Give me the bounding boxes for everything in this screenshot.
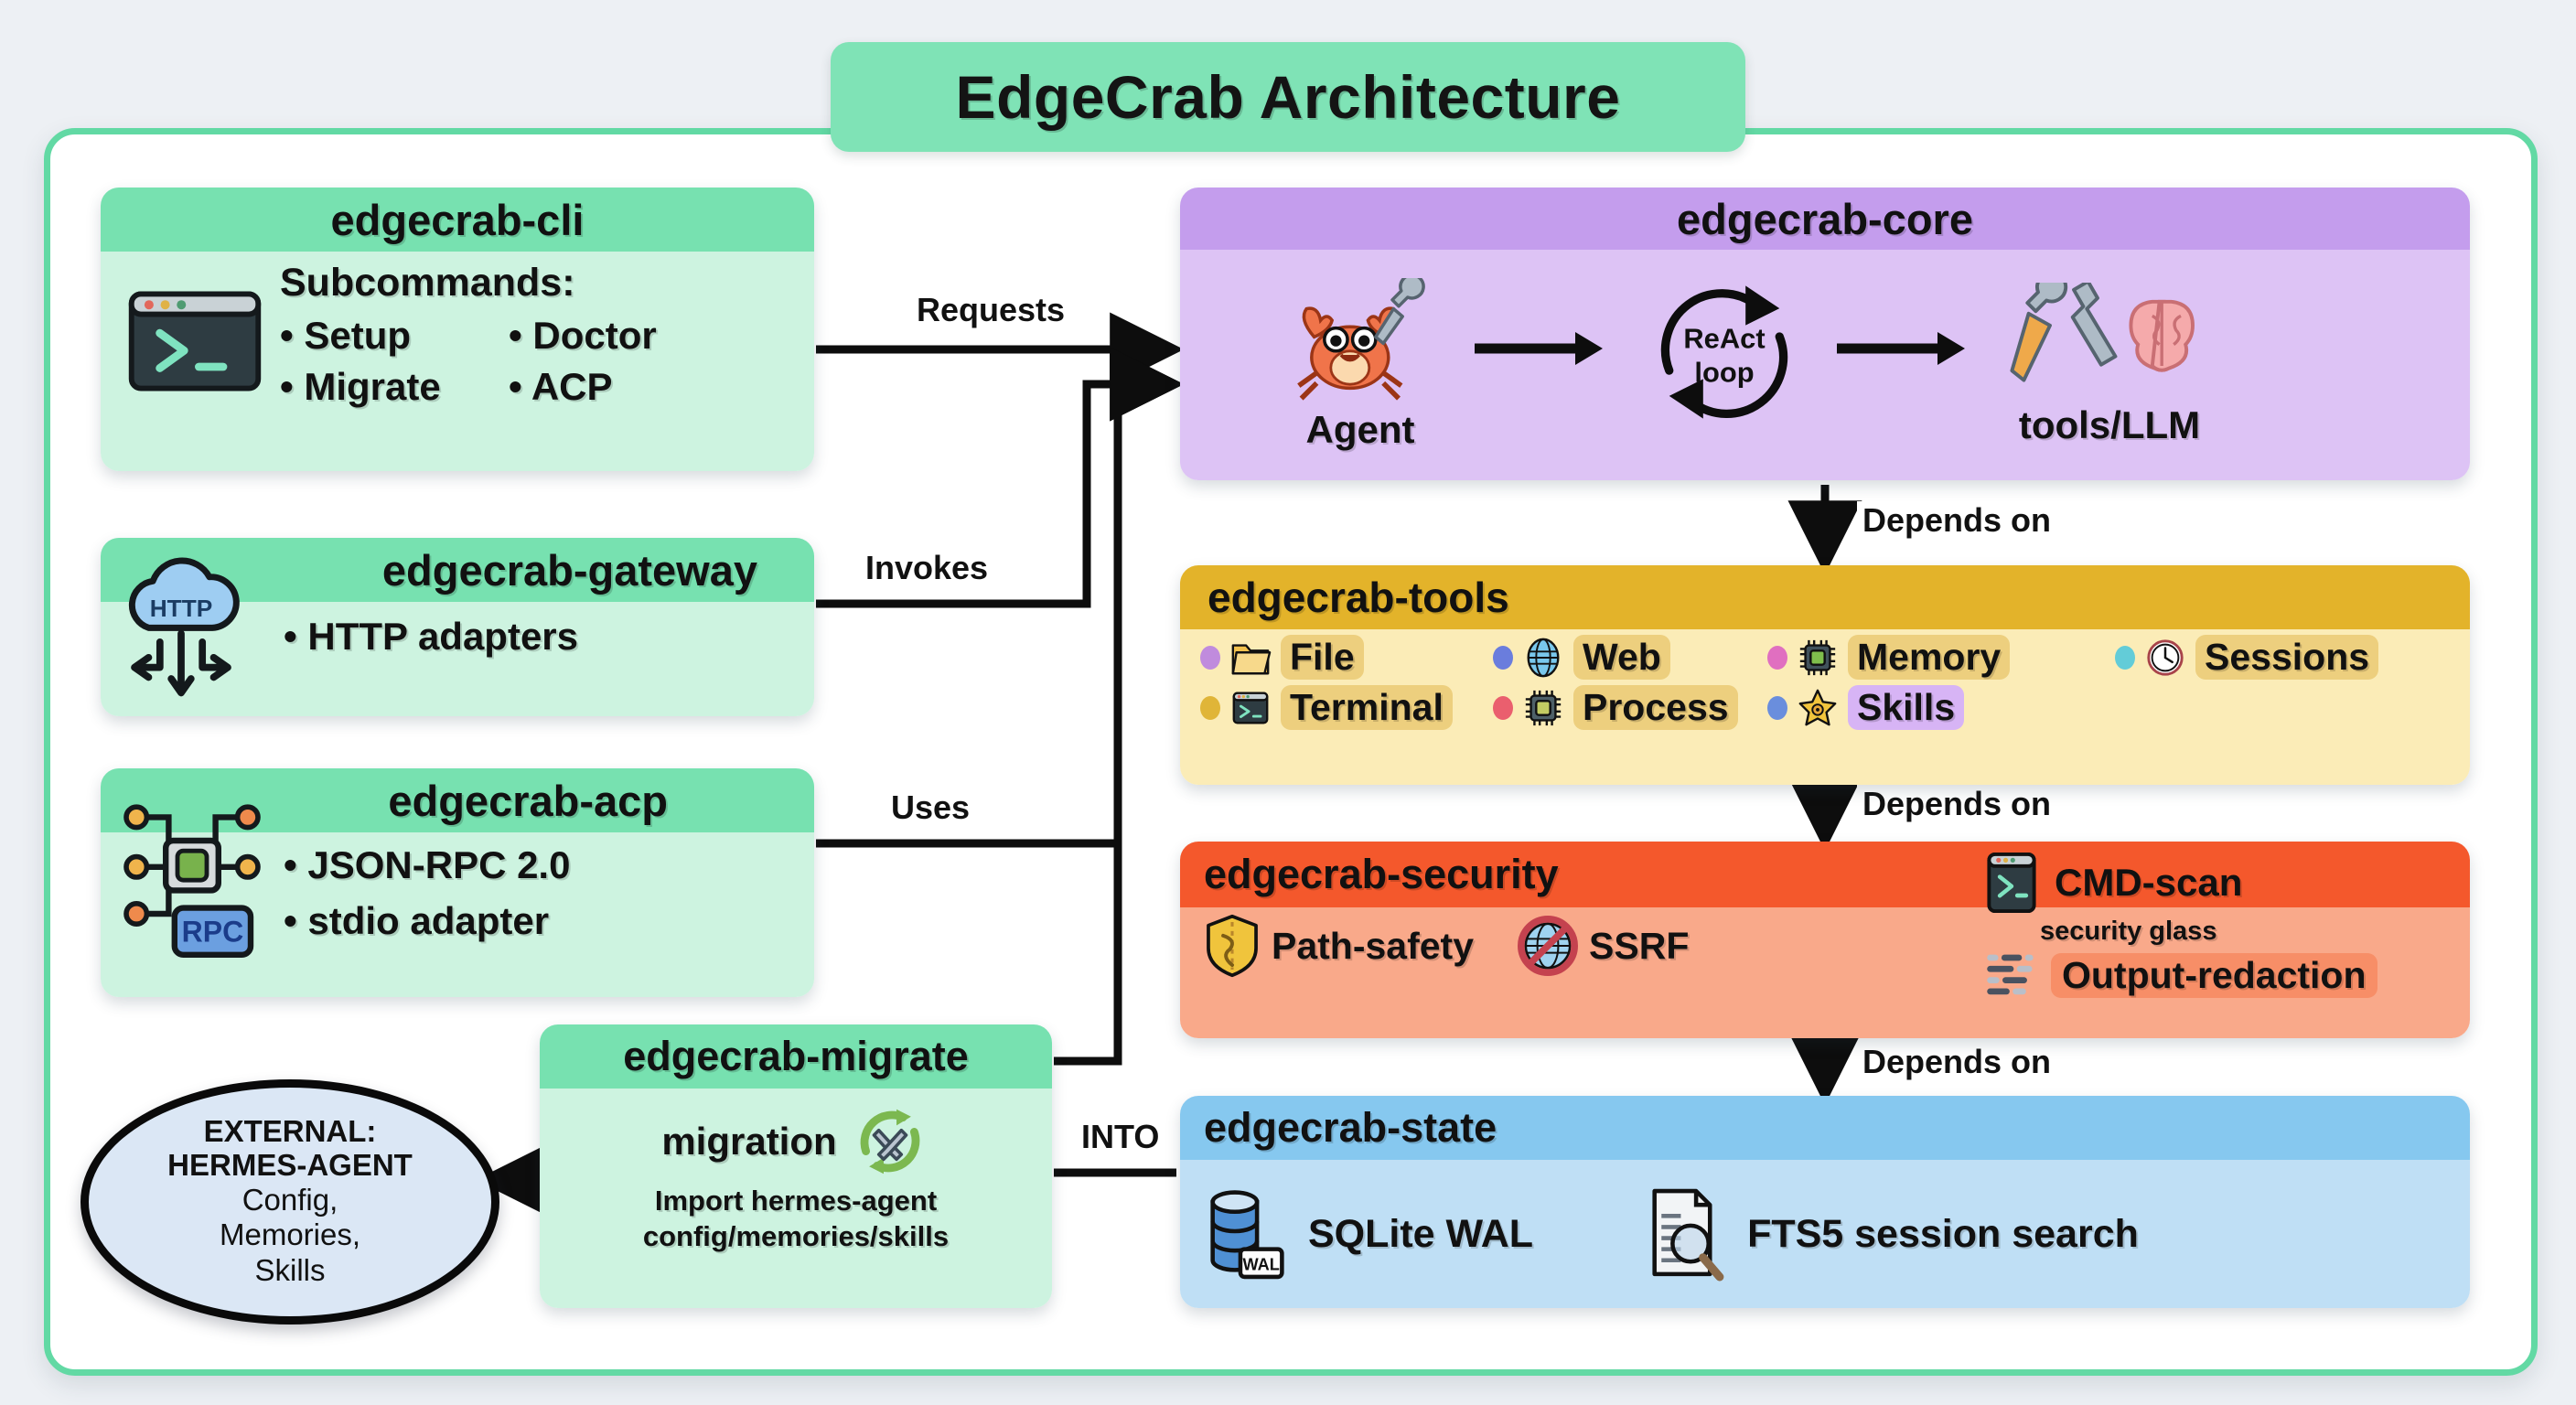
security-label-ssrf: SSRF	[1589, 925, 1689, 968]
tool-dot-terminal	[1200, 696, 1220, 720]
document-magnifier-icon	[1643, 1185, 1727, 1282]
tool-label-terminal: Terminal	[1281, 685, 1453, 730]
node-external-hermes-agent[interactable]: EXTERNAL: HERMES-AGENT Config, Memories,…	[80, 1079, 499, 1325]
tool-dot-web	[1493, 646, 1513, 670]
tool-label-file: File	[1281, 635, 1364, 680]
cli-subcommand-setup: • Setup	[280, 314, 509, 358]
terminal-icon	[1229, 687, 1272, 729]
cli-subcommand-doctor: • Doctor	[509, 314, 746, 358]
hermes-line-name: HERMES-AGENT	[167, 1149, 413, 1183]
security-label-security-glass: security glass	[2040, 917, 2377, 947]
page-title: EdgeCrab Architecture	[831, 42, 1745, 152]
tools-grid: File Web	[1200, 635, 2463, 730]
migrate-note-line1: Import hermes-agent	[540, 1184, 1052, 1219]
arrow-agent-to-loop	[1469, 321, 1606, 376]
security-item-path-safety[interactable]: Path-safety	[1204, 913, 1474, 979]
recycle-tools-icon	[850, 1101, 930, 1182]
security-item-cmd-scan[interactable]: CMD-scan	[1985, 851, 2377, 915]
tool-label-memory: Memory	[1848, 635, 2010, 680]
edge-label-uses: Uses	[885, 788, 975, 827]
node-core-header: edgecrab-core	[1180, 188, 2470, 250]
folder-icon	[1229, 637, 1272, 679]
edge-label-requests: Requests	[911, 291, 1070, 329]
cli-subcommands-label: Subcommands:	[280, 261, 575, 306]
core-agent-caption: Agent	[1306, 408, 1415, 452]
security-label-cmd-scan: CMD-scan	[2055, 861, 2242, 905]
cli-subcommand-grid: • Setup • Doctor • Migrate • ACP	[280, 314, 792, 409]
cli-subcommand-migrate: • Migrate	[280, 365, 509, 409]
hermes-line-memories: Memories,	[220, 1217, 360, 1253]
node-edgecrab-tools[interactable]: edgecrab-tools File	[1180, 565, 2470, 785]
core-loop-line1: ReAct	[1683, 322, 1765, 354]
security-item-ssrf[interactable]: SSRF	[1518, 916, 1689, 976]
hermes-line-skills: Skills	[254, 1253, 325, 1289]
node-migrate-header: edgecrab-migrate	[540, 1024, 1052, 1089]
redaction-bars-icon	[1985, 950, 2036, 1000]
svg-text:RPC: RPC	[182, 915, 244, 948]
tool-dot-memory	[1767, 646, 1787, 670]
svg-text:HTTP: HTTP	[150, 595, 213, 622]
security-label-output-redaction: Output-redaction	[2051, 953, 2377, 998]
core-loop-line2: loop	[1694, 356, 1754, 388]
database-wal-icon: WAL	[1204, 1185, 1288, 1282]
edge-label-depends-2: Depends on	[1857, 785, 2056, 823]
state-label-fts5: FTS5 session search	[1747, 1212, 2139, 1257]
security-item-output-redaction[interactable]: Output-redaction	[1985, 950, 2377, 1000]
security-label-path-safety: Path-safety	[1272, 925, 1474, 968]
clock-icon	[2144, 637, 2186, 679]
chip-icon	[1522, 687, 1564, 729]
edge-label-depends-3: Depends on	[1857, 1043, 2056, 1081]
tool-item-skills[interactable]: Skills	[1767, 685, 2115, 730]
chip-icon	[1797, 637, 1839, 679]
node-tools-header: edgecrab-tools	[1180, 565, 2470, 629]
circuit-rpc-icon: RPC	[119, 790, 265, 964]
terminal-icon	[1985, 851, 2038, 915]
gateway-item-http-adapters: • HTTP adapters	[284, 615, 578, 659]
migrate-note-line2: config/memories/skills	[540, 1219, 1052, 1255]
node-edgecrab-state[interactable]: edgecrab-state WAL SQLite WAL	[1180, 1096, 2470, 1308]
globe-icon	[1522, 637, 1564, 679]
no-entry-globe-icon	[1518, 916, 1578, 976]
acp-item-list: • JSON-RPC 2.0 • stdio adapter	[284, 838, 570, 949]
cli-subcommand-acp: • ACP	[509, 365, 746, 409]
tool-item-memory[interactable]: Memory	[1767, 635, 2115, 680]
tool-dot-file	[1200, 646, 1220, 670]
tool-dot-sessions	[2115, 646, 2135, 670]
node-edgecrab-security[interactable]: edgecrab-security Path-safety	[1180, 842, 2470, 1038]
node-cli-header: edgecrab-cli	[101, 188, 814, 252]
tool-item-file[interactable]: File	[1200, 635, 1493, 680]
edge-label-into: INTO	[1076, 1118, 1165, 1156]
tool-dot-process	[1493, 696, 1513, 720]
state-item-sqlite-wal[interactable]: WAL SQLite WAL	[1204, 1185, 1533, 1282]
tool-label-web: Web	[1573, 635, 1670, 680]
tool-item-terminal[interactable]: Terminal	[1200, 685, 1493, 730]
node-edgecrab-gateway[interactable]: edgecrab-gateway HTTP • HTTP adapters	[101, 538, 814, 716]
shield-icon	[1204, 913, 1261, 979]
hermes-line-external: EXTERNAL:	[204, 1115, 377, 1149]
node-state-header: edgecrab-state	[1180, 1096, 2470, 1160]
star-icon	[1797, 687, 1839, 729]
svg-text:WAL: WAL	[1242, 1255, 1279, 1273]
migrate-note: Import hermes-agent config/memories/skil…	[540, 1184, 1052, 1255]
diagram-canvas: EdgeCrab Architecture	[0, 0, 2576, 1405]
http-cloud-icon: HTTP	[117, 554, 245, 710]
edge-label-invokes: Invokes	[860, 549, 993, 587]
node-edgecrab-acp[interactable]: edgecrab-acp RPC • JSON-RPC 2.0 • stdi	[101, 768, 814, 997]
migrate-label: migration	[661, 1120, 836, 1164]
page-title-text: EdgeCrab Architecture	[956, 62, 1621, 132]
tool-label-process: Process	[1573, 685, 1738, 730]
tool-label-skills: Skills	[1848, 685, 1964, 730]
arrow-loop-to-tools	[1831, 321, 1969, 376]
tool-item-sessions[interactable]: Sessions	[2115, 635, 2463, 680]
tool-label-sessions: Sessions	[2195, 635, 2378, 680]
hermes-line-config: Config,	[242, 1183, 338, 1218]
tool-item-web[interactable]: Web	[1493, 635, 1767, 680]
core-tools-caption: tools/LLM	[2019, 403, 2200, 447]
acp-item-stdio: • stdio adapter	[284, 894, 570, 949]
tool-item-process[interactable]: Process	[1493, 685, 1767, 730]
terminal-icon	[126, 290, 263, 392]
edge-label-depends-1: Depends on	[1857, 501, 2056, 540]
tool-dot-skills	[1767, 696, 1787, 720]
circular-arrows-icon: ReAct loop	[1637, 274, 1811, 430]
node-edgecrab-core[interactable]: edgecrab-core	[1180, 188, 2470, 480]
state-item-fts5-search[interactable]: FTS5 session search	[1643, 1185, 2139, 1282]
acp-item-jsonrpc: • JSON-RPC 2.0	[284, 838, 570, 894]
crab-wrench-icon	[1283, 278, 1438, 406]
node-edgecrab-migrate[interactable]: edgecrab-migrate migration	[540, 1024, 1052, 1308]
wrench-brain-icon	[2000, 283, 2219, 402]
node-edgecrab-cli[interactable]: edgecrab-cli Subcommands: • Setup • Doct…	[101, 188, 814, 471]
state-label-sqlite-wal: SQLite WAL	[1308, 1212, 1533, 1257]
